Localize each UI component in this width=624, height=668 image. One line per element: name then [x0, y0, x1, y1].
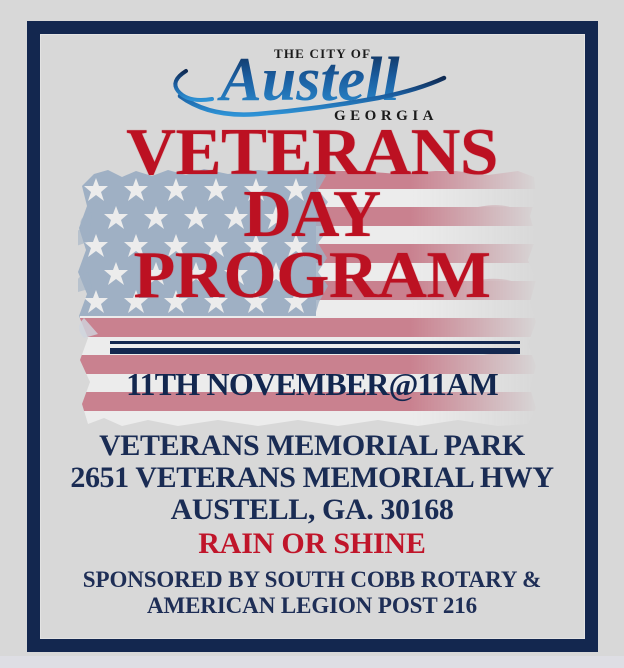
sponsor-line-1: SPONSORED BY SOUTH COBB ROTARY &	[0, 567, 624, 593]
rain-or-shine-note: RAIN OR SHINE	[0, 527, 624, 560]
logo-swash-left	[175, 71, 212, 100]
logo-eyebrow-text: THE CITY OF	[274, 46, 371, 61]
logo-state-text: GEORGIA	[334, 108, 438, 124]
headline-line-veterans: VETERANS	[0, 124, 624, 182]
venue-name: VETERANS MEMORIAL PARK	[0, 430, 624, 462]
sponsor-line-2: AMERICAN LEGION POST 216	[0, 593, 624, 619]
headline-line-day: DAY	[0, 186, 624, 244]
event-date-time: 11TH NOVEMBER@11AM	[0, 366, 624, 403]
bottom-edge-strip	[0, 656, 624, 668]
venue-street-address: 2651 VETERANS MEMORIAL HWY	[0, 462, 624, 494]
headline-line-program: PROGRAM	[0, 247, 624, 305]
venue-city-state-zip: AUSTELL, GA. 30168	[0, 494, 624, 526]
city-of-austell-logo: Austell THE CITY OF GEORGIA	[0, 38, 624, 124]
divider-rule-thick	[110, 348, 520, 354]
poster-headline: VETERANS DAY PROGRAM	[0, 124, 624, 305]
event-venue-block: VETERANS MEMORIAL PARK 2651 VETERANS MEM…	[0, 430, 624, 560]
veterans-day-poster: Austell THE CITY OF GEORGIA VETERANS DAY…	[0, 0, 624, 668]
divider-rules	[110, 341, 520, 354]
sponsor-block: SPONSORED BY SOUTH COBB ROTARY & AMERICA…	[0, 567, 624, 619]
